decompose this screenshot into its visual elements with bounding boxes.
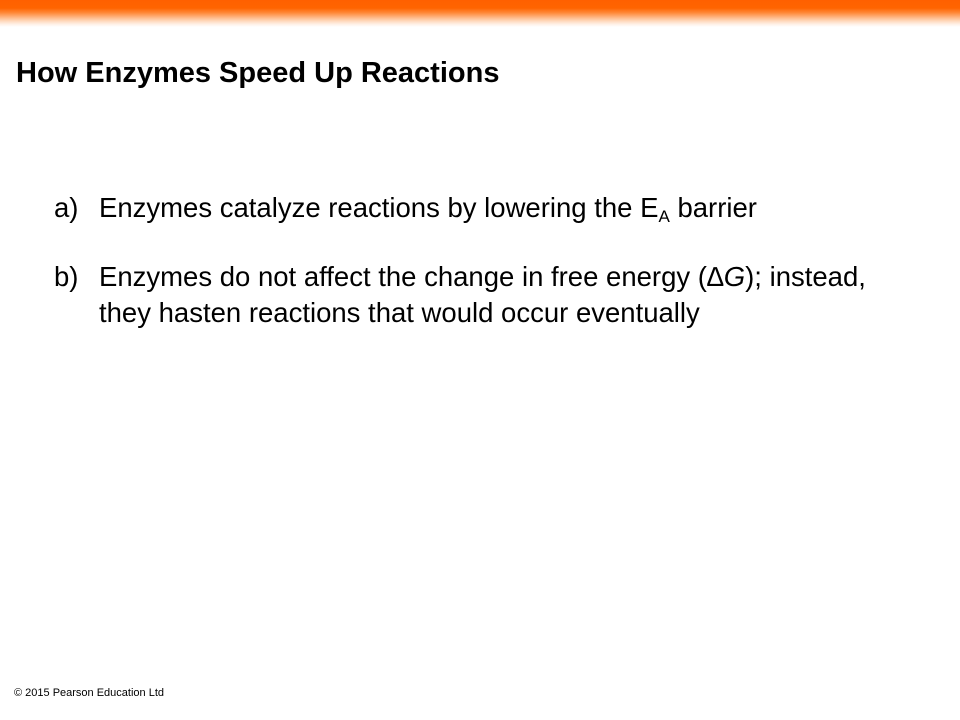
subscript-activation-energy: A (658, 207, 669, 226)
slide-canvas: How Enzymes Speed Up Reactions a) Enzyme… (0, 0, 960, 720)
list-item: b) Enzymes do not affect the change in f… (54, 259, 924, 331)
page-title: How Enzymes Speed Up Reactions (16, 56, 916, 90)
list-item: a) Enzymes catalyze reactions by lowerin… (54, 190, 924, 230)
list-item-a-text-after-subscript: barrier (670, 192, 757, 223)
list-item-text-b: Enzymes do not affect the change in free… (99, 259, 909, 331)
copyright-footer: © 2015 Pearson Education Ltd (14, 686, 164, 700)
body-content-list: a) Enzymes catalyze reactions by lowerin… (54, 190, 924, 331)
list-item-marker-a: a) (54, 190, 99, 226)
list-item-marker-b: b) (54, 259, 99, 295)
list-item-text-a: Enzymes catalyze reactions by lowering t… (99, 190, 771, 230)
delta-g-symbol: ∆G (707, 261, 745, 292)
list-item-b-text-part1: Enzymes do not affect the change in free… (99, 261, 707, 292)
orange-gradient-band-decoration (0, 0, 960, 27)
list-item-a-text-before-subscript: Enzymes catalyze reactions by lowering t… (99, 192, 658, 223)
